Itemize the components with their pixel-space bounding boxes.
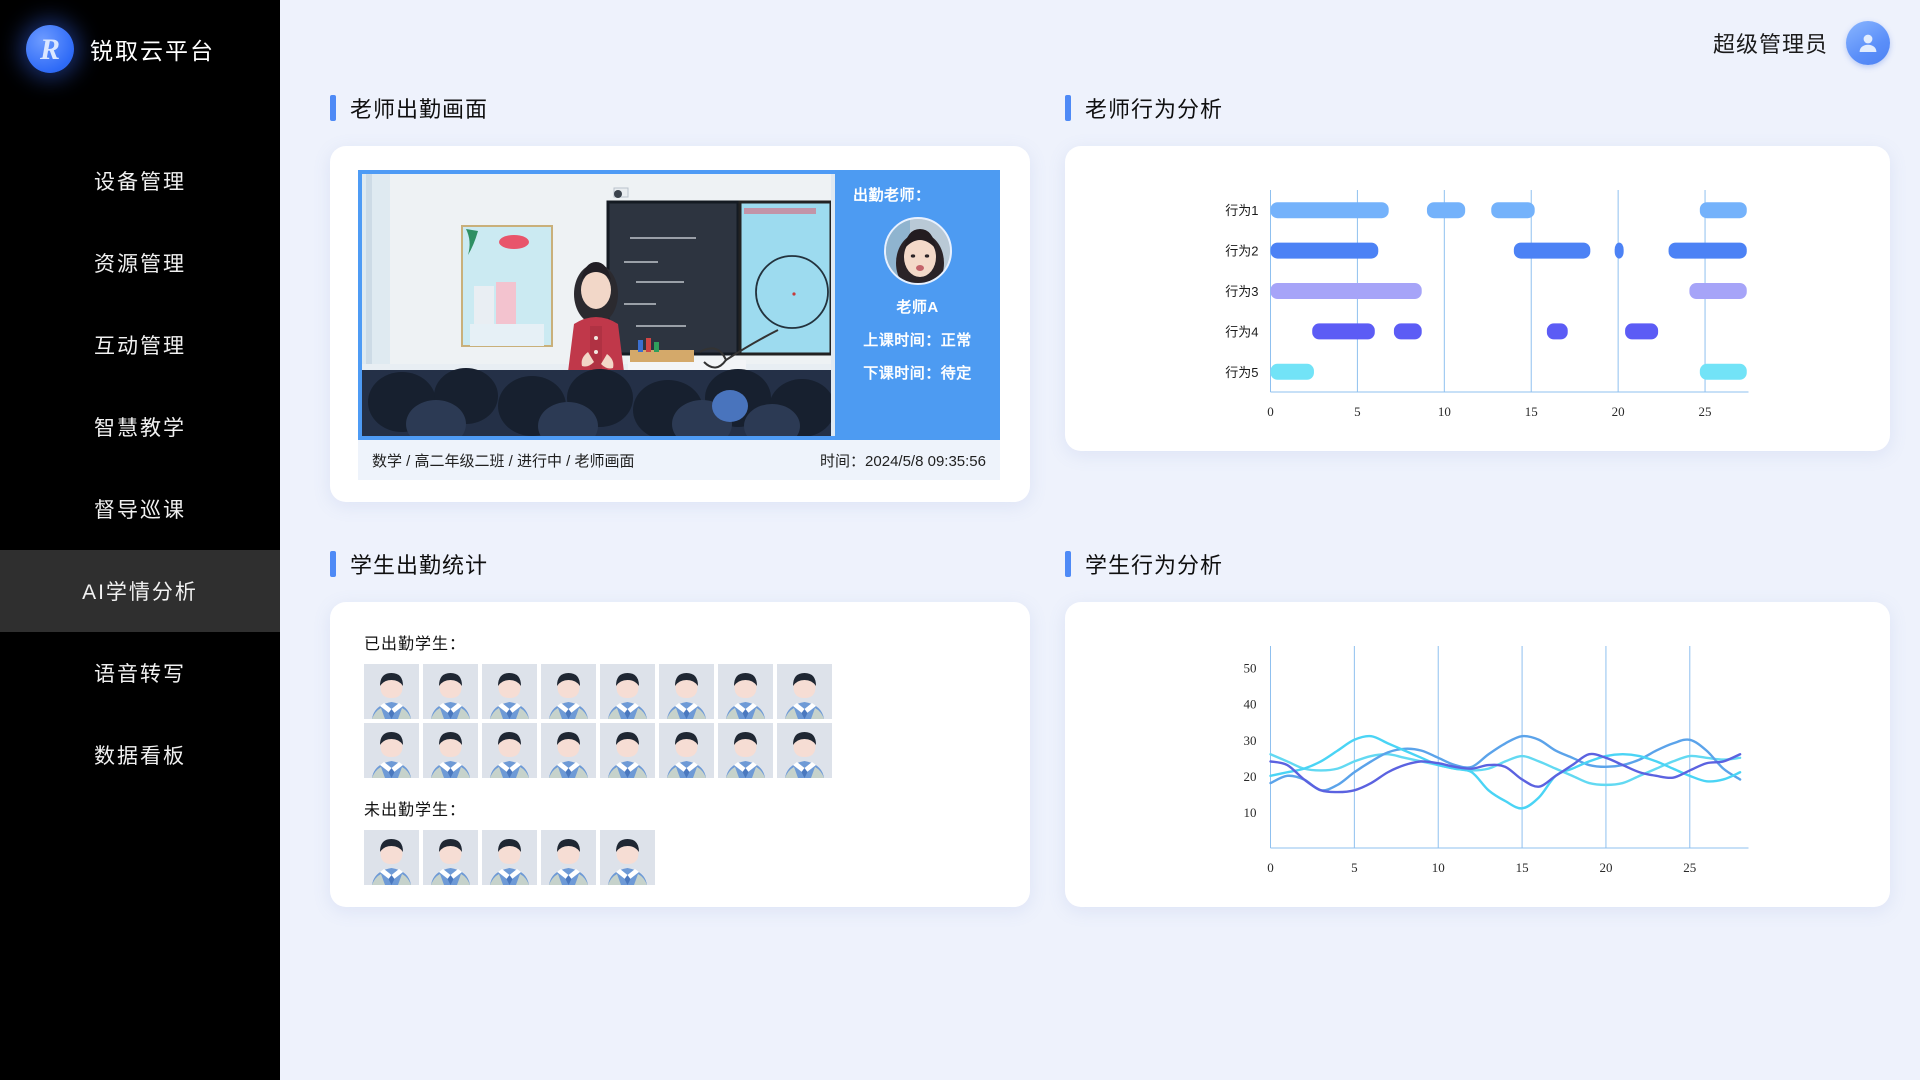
topbar: 超级管理员 (280, 0, 1920, 86)
line-series[interactable] (1271, 736, 1741, 808)
x-tick-label: 10 (1432, 860, 1445, 875)
video-meta: 数学 / 高二年级二班 / 进行中 / 老师画面 时间：2024/5/8 09:… (358, 440, 1000, 480)
sidebar-item-device[interactable]: 设备管理 (0, 140, 280, 222)
avatar-row (364, 723, 996, 778)
student-avatar[interactable] (718, 664, 773, 719)
gantt-bar[interactable] (1547, 323, 1568, 339)
student-avatar[interactable] (600, 723, 655, 778)
student-avatar[interactable] (600, 830, 655, 885)
teacher-video-card: 出勤老师： (330, 146, 1030, 502)
line-series[interactable] (1271, 754, 1741, 792)
panel-student-attendance: 学生出勤统计 已出勤学生： (330, 542, 1030, 907)
accent-bar-icon (330, 95, 336, 121)
brand-name: 锐取云平台 (90, 32, 215, 66)
x-tick-label: 15 (1525, 404, 1538, 419)
accent-bar-icon (330, 551, 336, 577)
sidebar: R 锐取云平台 设备管理 资源管理 互动管理 智慧教学 督导巡课 AI学情分析 … (0, 0, 280, 1080)
teacher-behavior-card: 0510152025行为1行为2行为3行为4行为5 (1065, 146, 1890, 451)
student-behavior-chart[interactable]: 05101520251020304050 (1087, 620, 1868, 896)
attendance-teacher-panel: 出勤老师： (835, 170, 1000, 440)
student-avatar[interactable] (777, 664, 832, 719)
svg-text:R: R (39, 33, 60, 66)
panel-teacher-behavior: 老师行为分析 0510152025行为1行为2行为3行为4行为5 (1065, 86, 1890, 502)
x-tick-label: 10 (1438, 404, 1451, 419)
x-tick-label: 20 (1612, 404, 1625, 419)
teacher-behavior-title: 老师行为分析 (1065, 86, 1890, 130)
sidebar-item-smart-teaching[interactable]: 智慧教学 (0, 386, 280, 468)
gantt-bar[interactable] (1669, 243, 1747, 259)
y-tick-label: 30 (1244, 733, 1257, 748)
x-tick-label: 25 (1683, 860, 1696, 875)
student-avatar[interactable] (423, 723, 478, 778)
sidebar-item-voice-transcription[interactable]: 语音转写 (0, 632, 280, 714)
gantt-bar[interactable] (1271, 364, 1314, 380)
gantt-bar[interactable] (1427, 202, 1465, 218)
logo-icon: R (26, 25, 74, 73)
student-avatar[interactable] (364, 830, 419, 885)
present-students-grid (364, 664, 996, 778)
student-attendance-title: 学生出勤统计 (330, 542, 1030, 586)
video-meta-time: 时间：2024/5/8 09:35:56 (820, 450, 986, 471)
student-avatar[interactable] (659, 664, 714, 719)
student-avatar[interactable] (482, 830, 537, 885)
student-avatar[interactable] (718, 723, 773, 778)
student-avatar[interactable] (364, 723, 419, 778)
gantt-bar[interactable] (1625, 323, 1658, 339)
x-tick-label: 5 (1354, 404, 1361, 419)
teacher-name: 老师A (896, 296, 938, 317)
y-tick-label: 50 (1244, 661, 1257, 676)
classroom-video-frame[interactable] (358, 170, 835, 440)
y-tick-label: 40 (1244, 697, 1257, 712)
gantt-bar[interactable] (1700, 364, 1747, 380)
accent-bar-icon (1065, 95, 1071, 121)
app-root: R 锐取云平台 设备管理 资源管理 互动管理 智慧教学 督导巡课 AI学情分析 … (0, 0, 1920, 1080)
sidebar-item-resource[interactable]: 资源管理 (0, 222, 280, 304)
teacher-photo (884, 217, 952, 285)
gantt-bar[interactable] (1491, 202, 1534, 218)
sidebar-item-dashboard[interactable]: 数据看板 (0, 714, 280, 796)
student-avatar[interactable] (364, 664, 419, 719)
gantt-bar[interactable] (1689, 283, 1746, 299)
student-attendance-card: 已出勤学生： (330, 602, 1030, 907)
sidebar-item-supervision[interactable]: 督导巡课 (0, 468, 280, 550)
x-tick-label: 0 (1267, 860, 1274, 875)
student-avatar[interactable] (600, 664, 655, 719)
present-students-label: 已出勤学生： (364, 630, 996, 654)
student-avatar[interactable] (541, 830, 596, 885)
accent-bar-icon (1065, 551, 1071, 577)
x-tick-label: 20 (1599, 860, 1612, 875)
category-label: 行为1 (1225, 203, 1258, 218)
student-avatar[interactable] (423, 830, 478, 885)
panel-teacher-video: 老师出勤画面 (330, 86, 1030, 502)
video-meta-course: 数学 / 高二年级二班 / 进行中 / 老师画面 (372, 450, 635, 471)
student-behavior-card: 05101520251020304050 (1065, 602, 1890, 907)
brand: R 锐取云平台 (0, 0, 280, 98)
student-avatar[interactable] (482, 723, 537, 778)
student-avatar[interactable] (659, 723, 714, 778)
gantt-bar[interactable] (1700, 202, 1747, 218)
gantt-bar[interactable] (1394, 323, 1422, 339)
class-end-time: 下课时间：待定 (863, 362, 972, 383)
attendance-heading: 出勤老师： (835, 184, 931, 205)
gantt-bar[interactable] (1271, 202, 1389, 218)
gantt-bar[interactable] (1271, 243, 1379, 259)
avatar-row (364, 664, 996, 719)
panel-student-behavior: 学生行为分析 05101520251020304050 (1065, 542, 1890, 907)
student-avatar[interactable] (541, 723, 596, 778)
gantt-bar[interactable] (1615, 243, 1624, 259)
user-name: 超级管理员 (1713, 27, 1828, 59)
x-tick-label: 0 (1267, 404, 1274, 419)
main-content: 超级管理员 老师出勤画面 (280, 0, 1920, 1080)
class-start-time: 上课时间：正常 (863, 329, 972, 350)
student-avatar[interactable] (423, 664, 478, 719)
teacher-video-title: 老师出勤画面 (330, 86, 1030, 130)
video-wrap[interactable]: 出勤老师： (358, 170, 1000, 440)
spacer (364, 782, 996, 796)
dashboard-grid: 老师出勤画面 (280, 86, 1920, 907)
gantt-bar[interactable] (1514, 243, 1590, 259)
absent-students-grid (364, 830, 996, 885)
student-avatar[interactable] (482, 664, 537, 719)
gantt-bar[interactable] (1271, 283, 1422, 299)
category-label: 行为2 (1225, 244, 1258, 259)
category-label: 行为4 (1225, 324, 1258, 339)
sidebar-item-interaction[interactable]: 互动管理 (0, 304, 280, 386)
x-tick-label: 15 (1516, 860, 1529, 875)
y-tick-label: 10 (1244, 805, 1257, 820)
avatar-row (364, 830, 996, 885)
sidebar-item-ai-analysis[interactable]: AI学情分析 (0, 550, 280, 632)
absent-students-label: 未出勤学生： (364, 796, 996, 820)
student-avatar[interactable] (541, 664, 596, 719)
line-series[interactable] (1271, 754, 1741, 785)
teacher-behavior-chart[interactable]: 0510152025行为1行为2行为3行为4行为5 (1087, 164, 1868, 440)
y-tick-label: 20 (1244, 769, 1257, 784)
x-tick-label: 5 (1351, 860, 1358, 875)
gantt-bar[interactable] (1312, 323, 1375, 339)
user-avatar-icon[interactable] (1846, 21, 1890, 65)
student-behavior-title: 学生行为分析 (1065, 542, 1890, 586)
sidebar-nav: 设备管理 资源管理 互动管理 智慧教学 督导巡课 AI学情分析 语音转写 数据看… (0, 140, 280, 796)
x-tick-label: 25 (1699, 404, 1712, 419)
category-label: 行为5 (1225, 365, 1258, 380)
category-label: 行为3 (1225, 284, 1258, 299)
student-avatar[interactable] (777, 723, 832, 778)
